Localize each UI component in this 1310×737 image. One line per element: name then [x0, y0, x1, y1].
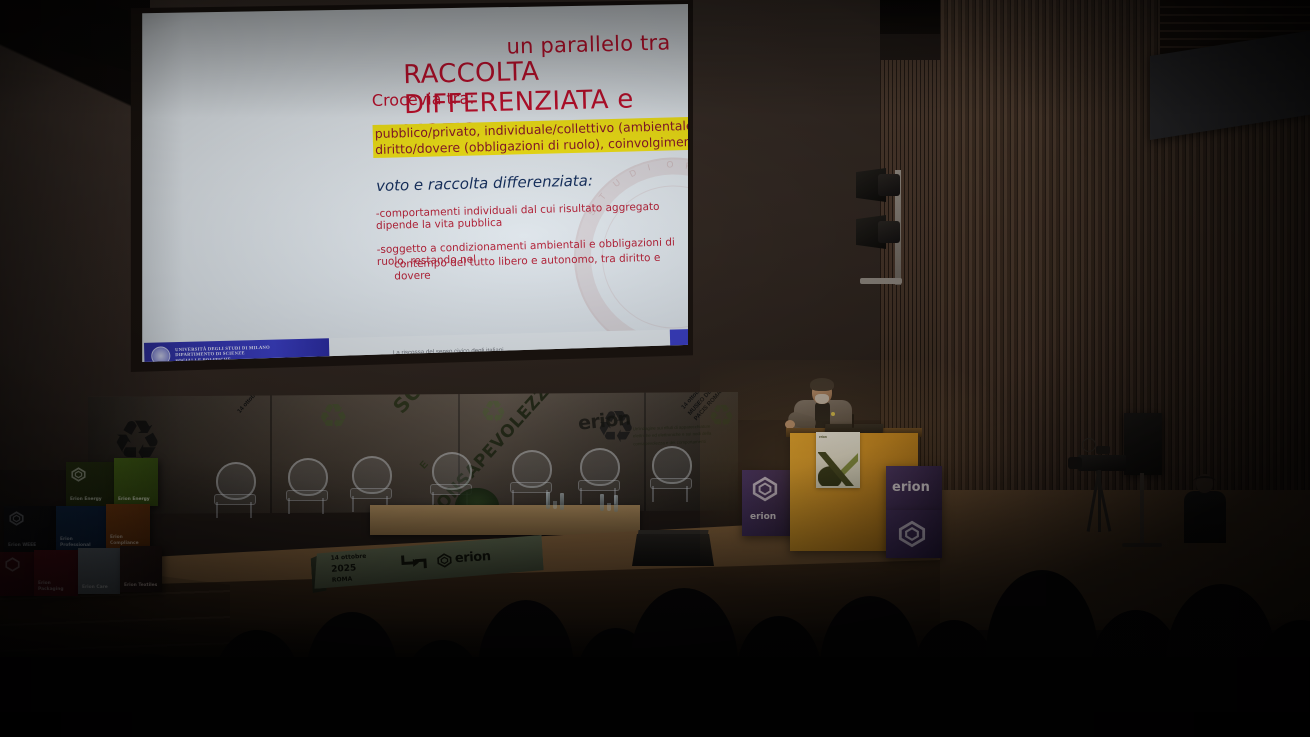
erion-logo-icon	[9, 511, 24, 526]
headphones-icon	[1193, 476, 1216, 487]
recycle-arrows-icon	[396, 548, 432, 578]
erion-box-label: erion	[892, 480, 930, 495]
erion-cube: Erion WEEE	[4, 506, 56, 552]
drinking-glass	[607, 503, 611, 511]
erion-logo-icon	[5, 557, 20, 572]
technician-arm	[1184, 512, 1224, 524]
projection-screen: S T U D I O R U M M E D I O L A N I un p…	[140, 4, 688, 362]
erion-cube: Erion Compliance	[106, 504, 150, 550]
water-bottle	[546, 492, 550, 509]
audience-foreground	[0, 657, 1310, 737]
stage-chair	[648, 446, 692, 502]
erion-logo-icon	[71, 467, 86, 482]
camera-mic-icon	[1082, 438, 1096, 452]
erion-cube-label: Erion Energy	[118, 497, 154, 503]
banner-year: 2025	[331, 561, 367, 576]
camera-lens-icon	[1068, 457, 1082, 469]
spotlight-icon-lower	[856, 215, 902, 249]
camera-viewfinder	[1096, 446, 1110, 454]
erion-cube: Erion Energy	[66, 462, 114, 506]
event-backdrop: ♻ ♻ ♻ ♻ ♻ 14 ottobre 2025 MUSEO DELL'ARA…	[88, 392, 738, 514]
erion-cube	[0, 552, 34, 596]
erion-cube-label: Erion WEEE	[8, 543, 52, 549]
erion-cube-label: Erion Energy	[70, 497, 110, 503]
stage-chair	[284, 458, 328, 514]
slide-subheading: voto e raccolta differenziata:	[376, 171, 593, 194]
pa-speaker-base	[1122, 543, 1162, 547]
unimi-seal-icon	[151, 346, 170, 362]
podium-poster: erion	[816, 432, 860, 488]
stage-chair	[212, 462, 256, 518]
erion-cube: Erion Energy	[114, 458, 158, 506]
speaker-badge	[831, 412, 835, 416]
speaker-beard	[815, 394, 829, 404]
drinking-glass	[553, 501, 557, 509]
water-bottle	[614, 495, 618, 512]
water-bottle	[600, 494, 604, 511]
water-bottle	[560, 493, 564, 510]
erion-logo-icon	[752, 476, 778, 502]
erion-cube-label: Erion Packaging	[38, 581, 74, 592]
microphone	[852, 414, 854, 428]
erion-cube-label: Erion Textiles	[124, 583, 158, 589]
slide-lead-label: Crocevia tra:	[372, 88, 475, 110]
erion-logo-icon	[437, 552, 453, 568]
tripod-leg	[1098, 470, 1101, 532]
erion-cube: Erion Packaging	[34, 550, 78, 596]
banner-city: ROMA	[332, 575, 353, 583]
erion-branded-box-right-bottom	[886, 510, 942, 558]
pa-speaker-cabinet	[1124, 413, 1162, 475]
erion-branded-box-left: erion	[742, 470, 796, 536]
stage-monitor-wedge	[632, 534, 714, 566]
video-camera-body	[1078, 455, 1126, 471]
auditorium-scene: S T U D I O R U M M E D I O L A N I un p…	[0, 0, 1310, 737]
erion-box-label: erion	[750, 512, 776, 522]
speaker-hair	[810, 378, 834, 391]
podium-poster-heading: erion	[819, 435, 827, 439]
erion-logo-icon	[898, 520, 926, 548]
banner-date-block: 14 ottobre 2025 ROMA	[330, 553, 368, 586]
erion-cube: Erion Professional	[56, 506, 106, 552]
erion-cube-label: Erion Compliance	[110, 535, 146, 546]
stage-chair	[348, 456, 392, 512]
banner-date-small: 14 ottobre	[330, 553, 366, 562]
erion-branded-box-right-top: erion	[886, 466, 942, 510]
erion-cube: Erion Textiles	[120, 546, 162, 592]
erion-cube: Erion Care	[78, 548, 120, 594]
spotlight-icon-upper	[856, 168, 902, 202]
light-bracket-horizontal	[860, 278, 902, 284]
banner-brand-wordmark: erion	[454, 549, 491, 566]
erion-cube-label: Erion Care	[82, 585, 116, 591]
erion-cube-label: Erion Professional	[60, 537, 102, 548]
podium-poster-artwork	[818, 452, 858, 486]
pa-speaker-stand	[1140, 473, 1144, 545]
